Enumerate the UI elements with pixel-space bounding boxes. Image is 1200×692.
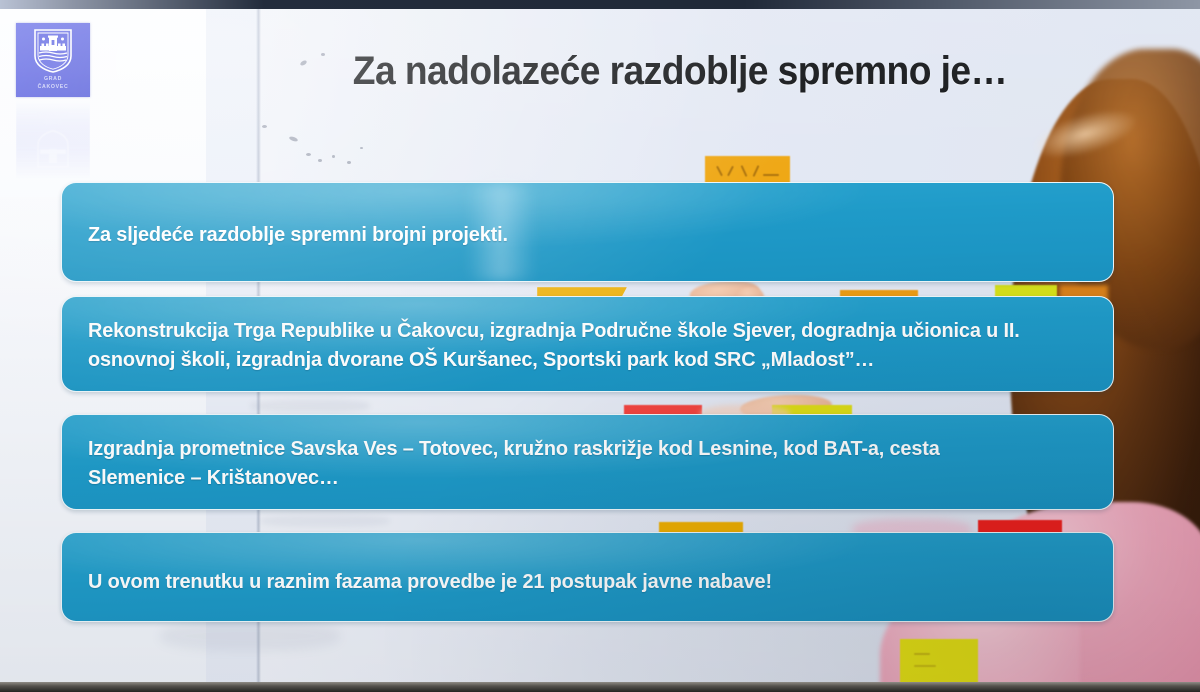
page-title: Za nadolazeće razdoblje spremno je…: [271, 49, 1089, 93]
bullet-list: Za sljedeće razdoblje spremni brojni pro…: [0, 0, 1200, 692]
bullet-line: Za sljedeće razdoblje spremni brojni pro…: [88, 220, 508, 249]
screen-bezel-bottom: [0, 682, 1200, 692]
bullet-bar-4[interactable]: U ovom trenutku u raznim fazama provedbe…: [61, 532, 1114, 622]
bullet-line: osnovnoj školi, izgradnja dvorane OŠ Kur…: [88, 345, 1020, 374]
bullet-bar-4-text: U ovom trenutku u raznim fazama provedbe…: [88, 557, 772, 596]
bullet-bar-2[interactable]: Rekonstrukcija Trga Republike u Čakovcu,…: [61, 296, 1114, 392]
presentation-slide: GRAD ČAKOVEC GRAD ČAKOVEC Za nadolazeće …: [0, 0, 1200, 692]
bullet-line: Slemenice – Krištanovec…: [88, 463, 940, 492]
bullet-line: U ovom trenutku u raznim fazama provedbe…: [88, 567, 772, 596]
bullet-bar-1[interactable]: Za sljedeće razdoblje spremni brojni pro…: [61, 182, 1114, 282]
bullet-line: Izgradnja prometnice Savska Ves – Totove…: [88, 434, 940, 463]
bullet-line: Rekonstrukcija Trga Republike u Čakovcu,…: [88, 316, 1020, 345]
bullet-bar-3-text: Izgradnja prometnice Savska Ves – Totove…: [88, 432, 940, 492]
screen-bezel-top: [0, 0, 1200, 9]
bullet-bar-3[interactable]: Izgradnja prometnice Savska Ves – Totove…: [61, 414, 1114, 510]
bullet-bar-2-text: Rekonstrukcija Trga Republike u Čakovcu,…: [88, 314, 1020, 374]
bullet-bar-1-text: Za sljedeće razdoblje spremni brojni pro…: [88, 214, 508, 249]
